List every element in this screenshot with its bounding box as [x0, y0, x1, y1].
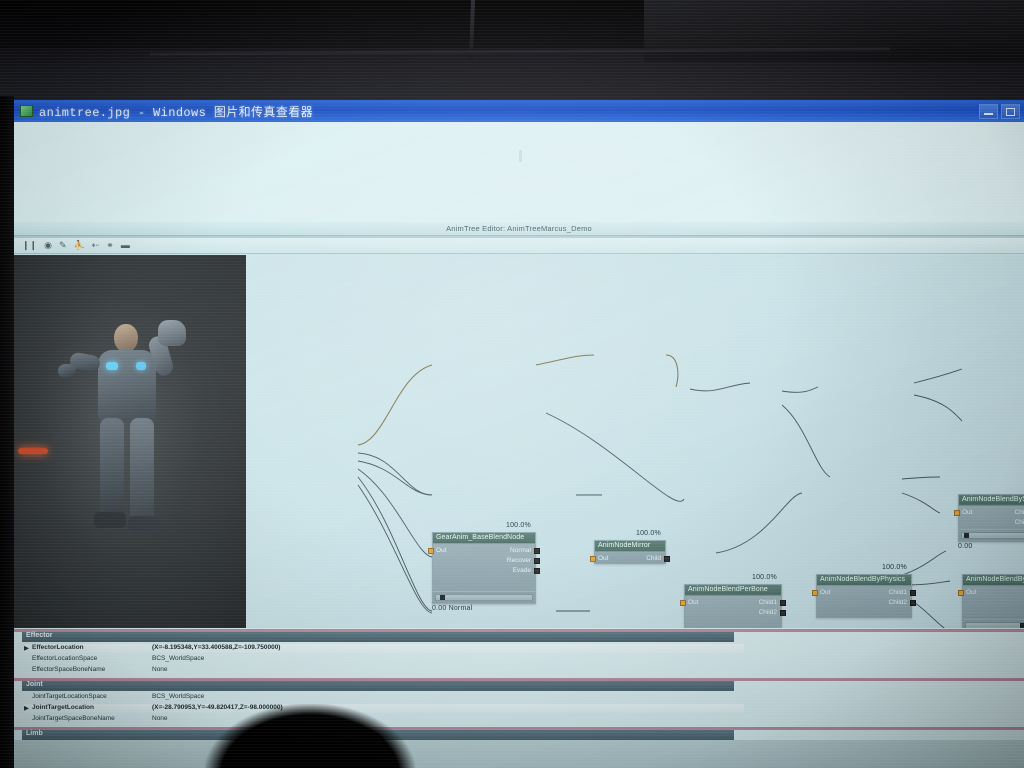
- node-output-port[interactable]: Normal: [510, 547, 531, 554]
- node-output-port[interactable]: Child2: [889, 599, 907, 606]
- node-output-port[interactable]: Evade: [513, 567, 531, 574]
- node-input-port[interactable]: Out: [598, 555, 608, 562]
- connection-wires: [246, 255, 1024, 628]
- output-pin[interactable]: [534, 568, 540, 574]
- bar-icon[interactable]: ▬: [121, 241, 130, 250]
- node-weight-slider[interactable]: [961, 532, 1024, 539]
- node-value-label: 0.00: [958, 543, 972, 550]
- node-title: AnimNodeBlendByAim: [963, 575, 1024, 586]
- torso: [98, 350, 156, 422]
- projector-photo: animtree.jpg - Windows 图片和传真查看器 AnimTree…: [0, 0, 1024, 768]
- restore-button[interactable]: [1001, 104, 1020, 119]
- input-pin[interactable]: [954, 510, 960, 516]
- output-pin[interactable]: [910, 600, 916, 606]
- head: [114, 324, 138, 352]
- node-weight-slider[interactable]: [435, 594, 533, 601]
- pause-icon[interactable]: ❙❙: [22, 241, 37, 250]
- property-value[interactable]: (X=-8.195348,Y=33.400588,Z=-109.750000): [152, 644, 280, 651]
- node-output-port[interactable]: Recover: [507, 557, 531, 564]
- node-value-label: 0.00 Normal: [432, 605, 472, 612]
- properties-panel[interactable]: Effector▶EffectorLocation(X=-8.195348,Y=…: [14, 628, 1024, 748]
- graph-node[interactable]: AnimNodeBlendByPhysicsOutChild1Child2: [816, 574, 912, 618]
- right-hand: [158, 320, 186, 346]
- node-weight-percent: 100.0%: [882, 564, 907, 571]
- node-input-port[interactable]: Out: [436, 547, 446, 554]
- output-pin[interactable]: [780, 610, 786, 616]
- window-title: animtree.jpg - Windows 图片和传真查看器: [39, 103, 313, 120]
- node-output-port[interactable]: Child2: [1015, 519, 1024, 526]
- input-pin[interactable]: [590, 556, 596, 562]
- property-section-header[interactable]: Effector: [22, 632, 734, 642]
- node-output-port[interactable]: Child1: [1015, 509, 1024, 516]
- window-titlebar: animtree.jpg - Windows 图片和传真查看器: [14, 100, 1024, 122]
- expand-arrow-icon[interactable]: ▶: [24, 704, 29, 712]
- node-divider: [963, 619, 1024, 620]
- node-input-port[interactable]: Out: [962, 509, 972, 516]
- property-section-header[interactable]: Joint: [22, 681, 734, 691]
- node-divider: [433, 591, 535, 592]
- node-title: AnimNodeBlendBySpeed: [959, 495, 1024, 506]
- slider-knob[interactable]: [964, 533, 969, 538]
- property-key: EffectorLocation: [32, 644, 84, 651]
- property-value[interactable]: None: [152, 666, 168, 673]
- editor-toolbar: ❙❙ ◉ ✎ ⛹ ⇠ ⚭ ▬: [14, 238, 1024, 254]
- output-pin[interactable]: [664, 556, 670, 562]
- property-key: EffectorSpaceBoneName: [32, 666, 105, 673]
- node-title: GearAnim_BaseBlendNode: [433, 533, 535, 544]
- bone-icon[interactable]: ⇠: [92, 241, 100, 250]
- graph-node[interactable]: AnimNodeBlendByAimOut: [962, 574, 1024, 632]
- editor-titlebar: AnimTree Editor: AnimTreeMarcus_Demo: [14, 222, 1024, 236]
- graph-node[interactable]: AnimNodeBlendBySpeedOutChild1Child2: [958, 494, 1024, 542]
- skeleton-icon[interactable]: ⛹: [74, 241, 85, 250]
- left-forearm: [58, 364, 76, 378]
- bulb-icon[interactable]: ⚭: [106, 241, 114, 250]
- node-title: AnimNodeMirror: [595, 541, 665, 552]
- right-leg: [130, 418, 154, 522]
- left-leg: [100, 418, 124, 518]
- slider-knob[interactable]: [440, 595, 445, 600]
- node-input-port[interactable]: Out: [688, 599, 698, 606]
- node-divider: [959, 529, 1024, 530]
- chest-light-left: [106, 362, 118, 370]
- projection-screen: animtree.jpg - Windows 图片和传真查看器 AnimTree…: [14, 100, 1024, 748]
- pencil-icon[interactable]: ✎: [59, 241, 67, 250]
- graph-node[interactable]: GearAnim_BaseBlendNodeOutNormalRecoverEv…: [432, 532, 536, 604]
- property-key: JointTargetSpaceBoneName: [32, 715, 115, 722]
- chest-light-right: [136, 362, 146, 370]
- node-weight-percent: 100.0%: [506, 522, 531, 529]
- expand-arrow-icon[interactable]: ▶: [24, 644, 29, 652]
- room-left-edge: [0, 96, 14, 768]
- room-right-panel: [644, 0, 1024, 62]
- property-key: JointTargetLocation: [32, 704, 94, 711]
- node-output-port[interactable]: Child1: [889, 589, 907, 596]
- audience-head-shape: [236, 720, 386, 768]
- dust-speck: [519, 150, 522, 162]
- property-row[interactable]: EffectorSpaceBoneNameNone: [24, 666, 744, 675]
- animtree-editor-image: AnimTree Editor: AnimTreeMarcus_Demo ❙❙ …: [14, 222, 1024, 628]
- muzzle-glow: [18, 448, 48, 454]
- node-title: AnimNodeBlendPerBone: [685, 585, 781, 596]
- right-foot: [128, 516, 160, 532]
- property-key: EffectorLocationSpace: [32, 655, 97, 662]
- node-weight-percent: 100.0%: [752, 574, 777, 581]
- output-pin[interactable]: [534, 548, 540, 554]
- property-value[interactable]: BCS_WorldSpace: [152, 693, 204, 700]
- property-key: JointTargetLocationSpace: [32, 693, 107, 700]
- input-pin[interactable]: [680, 600, 686, 606]
- input-pin[interactable]: [812, 590, 818, 596]
- eye-icon[interactable]: ◉: [44, 241, 52, 250]
- editor-title: AnimTree Editor: AnimTreeMarcus_Demo: [446, 224, 592, 233]
- node-title: AnimNodeBlendByPhysics: [817, 575, 911, 586]
- output-pin[interactable]: [534, 558, 540, 564]
- character-preview-viewport[interactable]: [14, 255, 246, 628]
- property-row[interactable]: EffectorLocationSpaceBCS_WorldSpace: [24, 655, 744, 664]
- property-value[interactable]: None: [152, 715, 168, 722]
- node-input-port[interactable]: Out: [966, 589, 976, 596]
- graph-node[interactable]: AnimNodeMirrorOutChild: [594, 540, 666, 564]
- property-row[interactable]: JointTargetLocationSpaceBCS_WorldSpace: [24, 693, 744, 702]
- input-pin[interactable]: [958, 590, 964, 596]
- input-pin[interactable]: [428, 548, 434, 554]
- property-row[interactable]: ▶EffectorLocation(X=-8.195348,Y=33.40058…: [24, 644, 744, 653]
- node-output-port[interactable]: Child: [646, 555, 661, 562]
- room-foreground: [0, 740, 1024, 768]
- output-pin[interactable]: [910, 590, 916, 596]
- left-foot: [94, 512, 126, 528]
- node-input-port[interactable]: Out: [820, 589, 830, 596]
- output-pin[interactable]: [780, 600, 786, 606]
- node-weight-percent: 100.0%: [636, 530, 661, 537]
- minimize-button[interactable]: [979, 104, 998, 119]
- property-value[interactable]: BCS_WorldSpace: [152, 655, 204, 662]
- character-model: [62, 320, 192, 560]
- image-file-icon: [20, 105, 33, 117]
- node-output-port[interactable]: Child2: [759, 609, 777, 616]
- node-output-port[interactable]: Child1: [759, 599, 777, 606]
- node-graph-canvas[interactable]: [246, 255, 1024, 628]
